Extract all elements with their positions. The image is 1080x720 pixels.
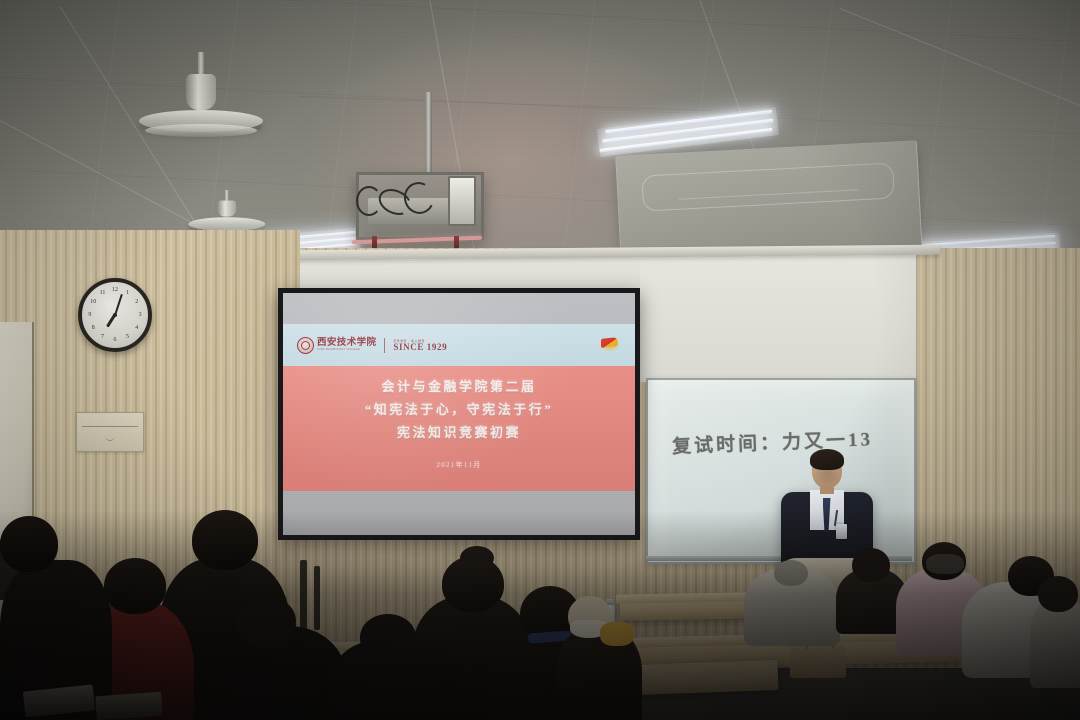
chair-leg — [314, 566, 320, 630]
logo-divider — [384, 338, 385, 353]
emblem-flag — [601, 337, 618, 348]
fan-blade-ring — [145, 124, 257, 137]
university-seal-icon — [297, 337, 314, 354]
slide-date: 2021年11月 — [283, 460, 635, 470]
logo-institution-en: XI'AN TECHNOLOGY COLLEGE — [317, 348, 376, 351]
panel-slit — [82, 426, 137, 427]
student-head — [104, 558, 166, 614]
logo-institution-cn: 西安技术学院 — [317, 339, 376, 349]
student-head — [360, 614, 416, 660]
presenter-name-badge — [836, 524, 847, 539]
screen-surface: 西安技术学院 XI'AN TECHNOLOGY COLLEGE 百年学府 · 薪… — [283, 293, 635, 535]
student-head — [1038, 576, 1078, 612]
chair-leg — [300, 560, 307, 630]
handbag — [790, 644, 846, 678]
slide-title-line-1: 会计与金融学院第二届 — [283, 376, 635, 395]
logo-since-block: 百年学府 · 薪火相传 SINCE 1929 — [393, 339, 447, 352]
presenter-face-shadow — [815, 468, 839, 486]
student-scarf — [600, 622, 634, 646]
student-hair-bun — [460, 546, 494, 570]
slide-title-line-2: “知宪法于心，守宪法于行” — [283, 399, 635, 418]
projector-lens — [448, 176, 476, 226]
slide-title-line-3: 宪法知识竞赛初赛 — [283, 422, 635, 441]
clock-numeral: 10 — [90, 299, 96, 305]
clock-numeral: 1 — [126, 290, 129, 296]
logo-since-label: SINCE 1929 — [393, 343, 447, 352]
logo-text-block: 西安技术学院 XI'AN TECHNOLOGY COLLEGE — [317, 339, 376, 352]
wall-upper-plaster — [640, 252, 916, 382]
slide-top-band — [283, 293, 635, 324]
student-head — [774, 560, 808, 586]
clock-numeral: 9 — [88, 312, 91, 318]
fan-motor — [186, 74, 216, 110]
clock-numeral: 6 — [114, 337, 117, 343]
clock-numeral: 3 — [139, 312, 142, 318]
clock-numeral: 7 — [101, 334, 104, 340]
presenter-hair — [810, 449, 844, 470]
wall-clock: 12 1 2 3 4 5 6 7 8 9 10 11 — [78, 278, 152, 352]
student-head — [852, 548, 890, 582]
student-head — [236, 596, 296, 646]
fan-blade-ring — [188, 217, 265, 231]
panel-notch — [105, 435, 116, 441]
clock-numeral: 8 — [92, 325, 95, 331]
student-head — [0, 516, 58, 572]
student-hood — [926, 554, 964, 574]
clock-numeral: 12 — [112, 287, 118, 293]
fan-motor — [217, 201, 236, 217]
party-flag-emblem-icon — [599, 337, 621, 353]
slide-header-band: 西安技术学院 XI'AN TECHNOLOGY COLLEGE 百年学府 · 薪… — [283, 324, 635, 365]
clock-numeral: 4 — [135, 325, 138, 331]
clock-minute-hand — [114, 293, 123, 315]
student-head — [192, 510, 258, 570]
clock-numeral: 5 — [126, 334, 129, 340]
university-logo: 西安技术学院 XI'AN TECHNOLOGY COLLEGE 百年学府 · 薪… — [297, 337, 447, 354]
slide-bottom-band — [283, 491, 635, 535]
notebook — [95, 692, 163, 720]
clock-numeral: 2 — [135, 299, 138, 305]
projector-mount-rod — [425, 92, 432, 174]
clock-center-pin — [113, 313, 117, 317]
wall-access-panel[interactable] — [76, 412, 144, 452]
projection-screen: 西安技术学院 XI'AN TECHNOLOGY COLLEGE 百年学府 · 薪… — [278, 288, 640, 540]
clock-numeral: 11 — [100, 290, 106, 296]
lecture-hall-photo: 12 1 2 3 4 5 6 7 8 9 10 11 复试时间：力又一13 — [0, 0, 1080, 720]
whiteboard-handwriting: 复试时间：力又一13 — [672, 424, 874, 459]
